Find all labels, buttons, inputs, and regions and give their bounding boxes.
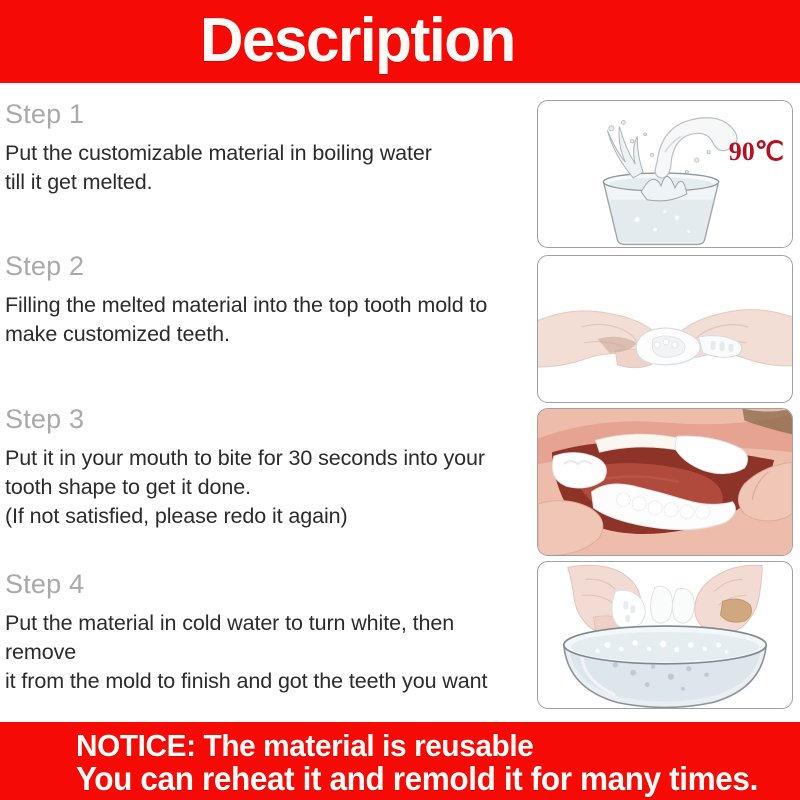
cold-water-bowl-illustration bbox=[538, 562, 792, 708]
bite-mold-in-mouth-svg bbox=[538, 409, 792, 555]
cold-water-bowl-svg bbox=[538, 562, 792, 708]
photos-column: 90℃ bbox=[533, 83, 800, 722]
step-1-label: Step 1 bbox=[5, 97, 530, 131]
step-4-text: Put the material in cold water to turn w… bbox=[5, 609, 530, 696]
notice-banner: NOTICE: The material is reusable You can… bbox=[0, 722, 800, 800]
description-header-banner: Description bbox=[0, 0, 800, 83]
filling-mold-photo bbox=[537, 255, 793, 403]
filling-mold-svg bbox=[538, 256, 792, 402]
step-block-4: Step 4 Put the material in cold water to… bbox=[5, 567, 530, 696]
step-2-text: Filling the melted material into the top… bbox=[5, 291, 530, 349]
cold-water-bowl-photo bbox=[537, 561, 793, 709]
step-block-1: Step 1 Put the customizable material in … bbox=[5, 97, 530, 197]
boiling-water-glass-illustration bbox=[538, 101, 792, 247]
steps-column: Step 1 Put the customizable material in … bbox=[0, 83, 532, 722]
step-block-3: Step 3 Put it in your mouth to bite for … bbox=[5, 402, 530, 531]
instructions-content: Step 1 Put the customizable material in … bbox=[0, 83, 800, 722]
boiling-water-glass-svg bbox=[538, 101, 792, 247]
bite-mold-in-mouth-illustration bbox=[538, 409, 792, 555]
notice-line-2: You can reheat it and remold it for many… bbox=[76, 760, 758, 798]
notice-line-1: NOTICE: The material is reusable bbox=[76, 728, 533, 764]
step-3-text: Put it in your mouth to bite for 30 seco… bbox=[5, 444, 530, 531]
step-4-label: Step 4 bbox=[5, 567, 530, 601]
step-3-label: Step 3 bbox=[5, 402, 530, 436]
step-1-text: Put the customizable material in boiling… bbox=[5, 139, 530, 197]
filling-mold-illustration bbox=[538, 256, 792, 402]
boiling-water-glass-photo: 90℃ bbox=[537, 100, 793, 248]
page-title: Description bbox=[200, 6, 515, 76]
step-2-label: Step 2 bbox=[5, 249, 530, 283]
bite-mold-in-mouth-photo bbox=[537, 408, 793, 556]
temperature-badge: 90℃ bbox=[729, 139, 784, 165]
step-block-2: Step 2 Filling the melted material into … bbox=[5, 249, 530, 349]
